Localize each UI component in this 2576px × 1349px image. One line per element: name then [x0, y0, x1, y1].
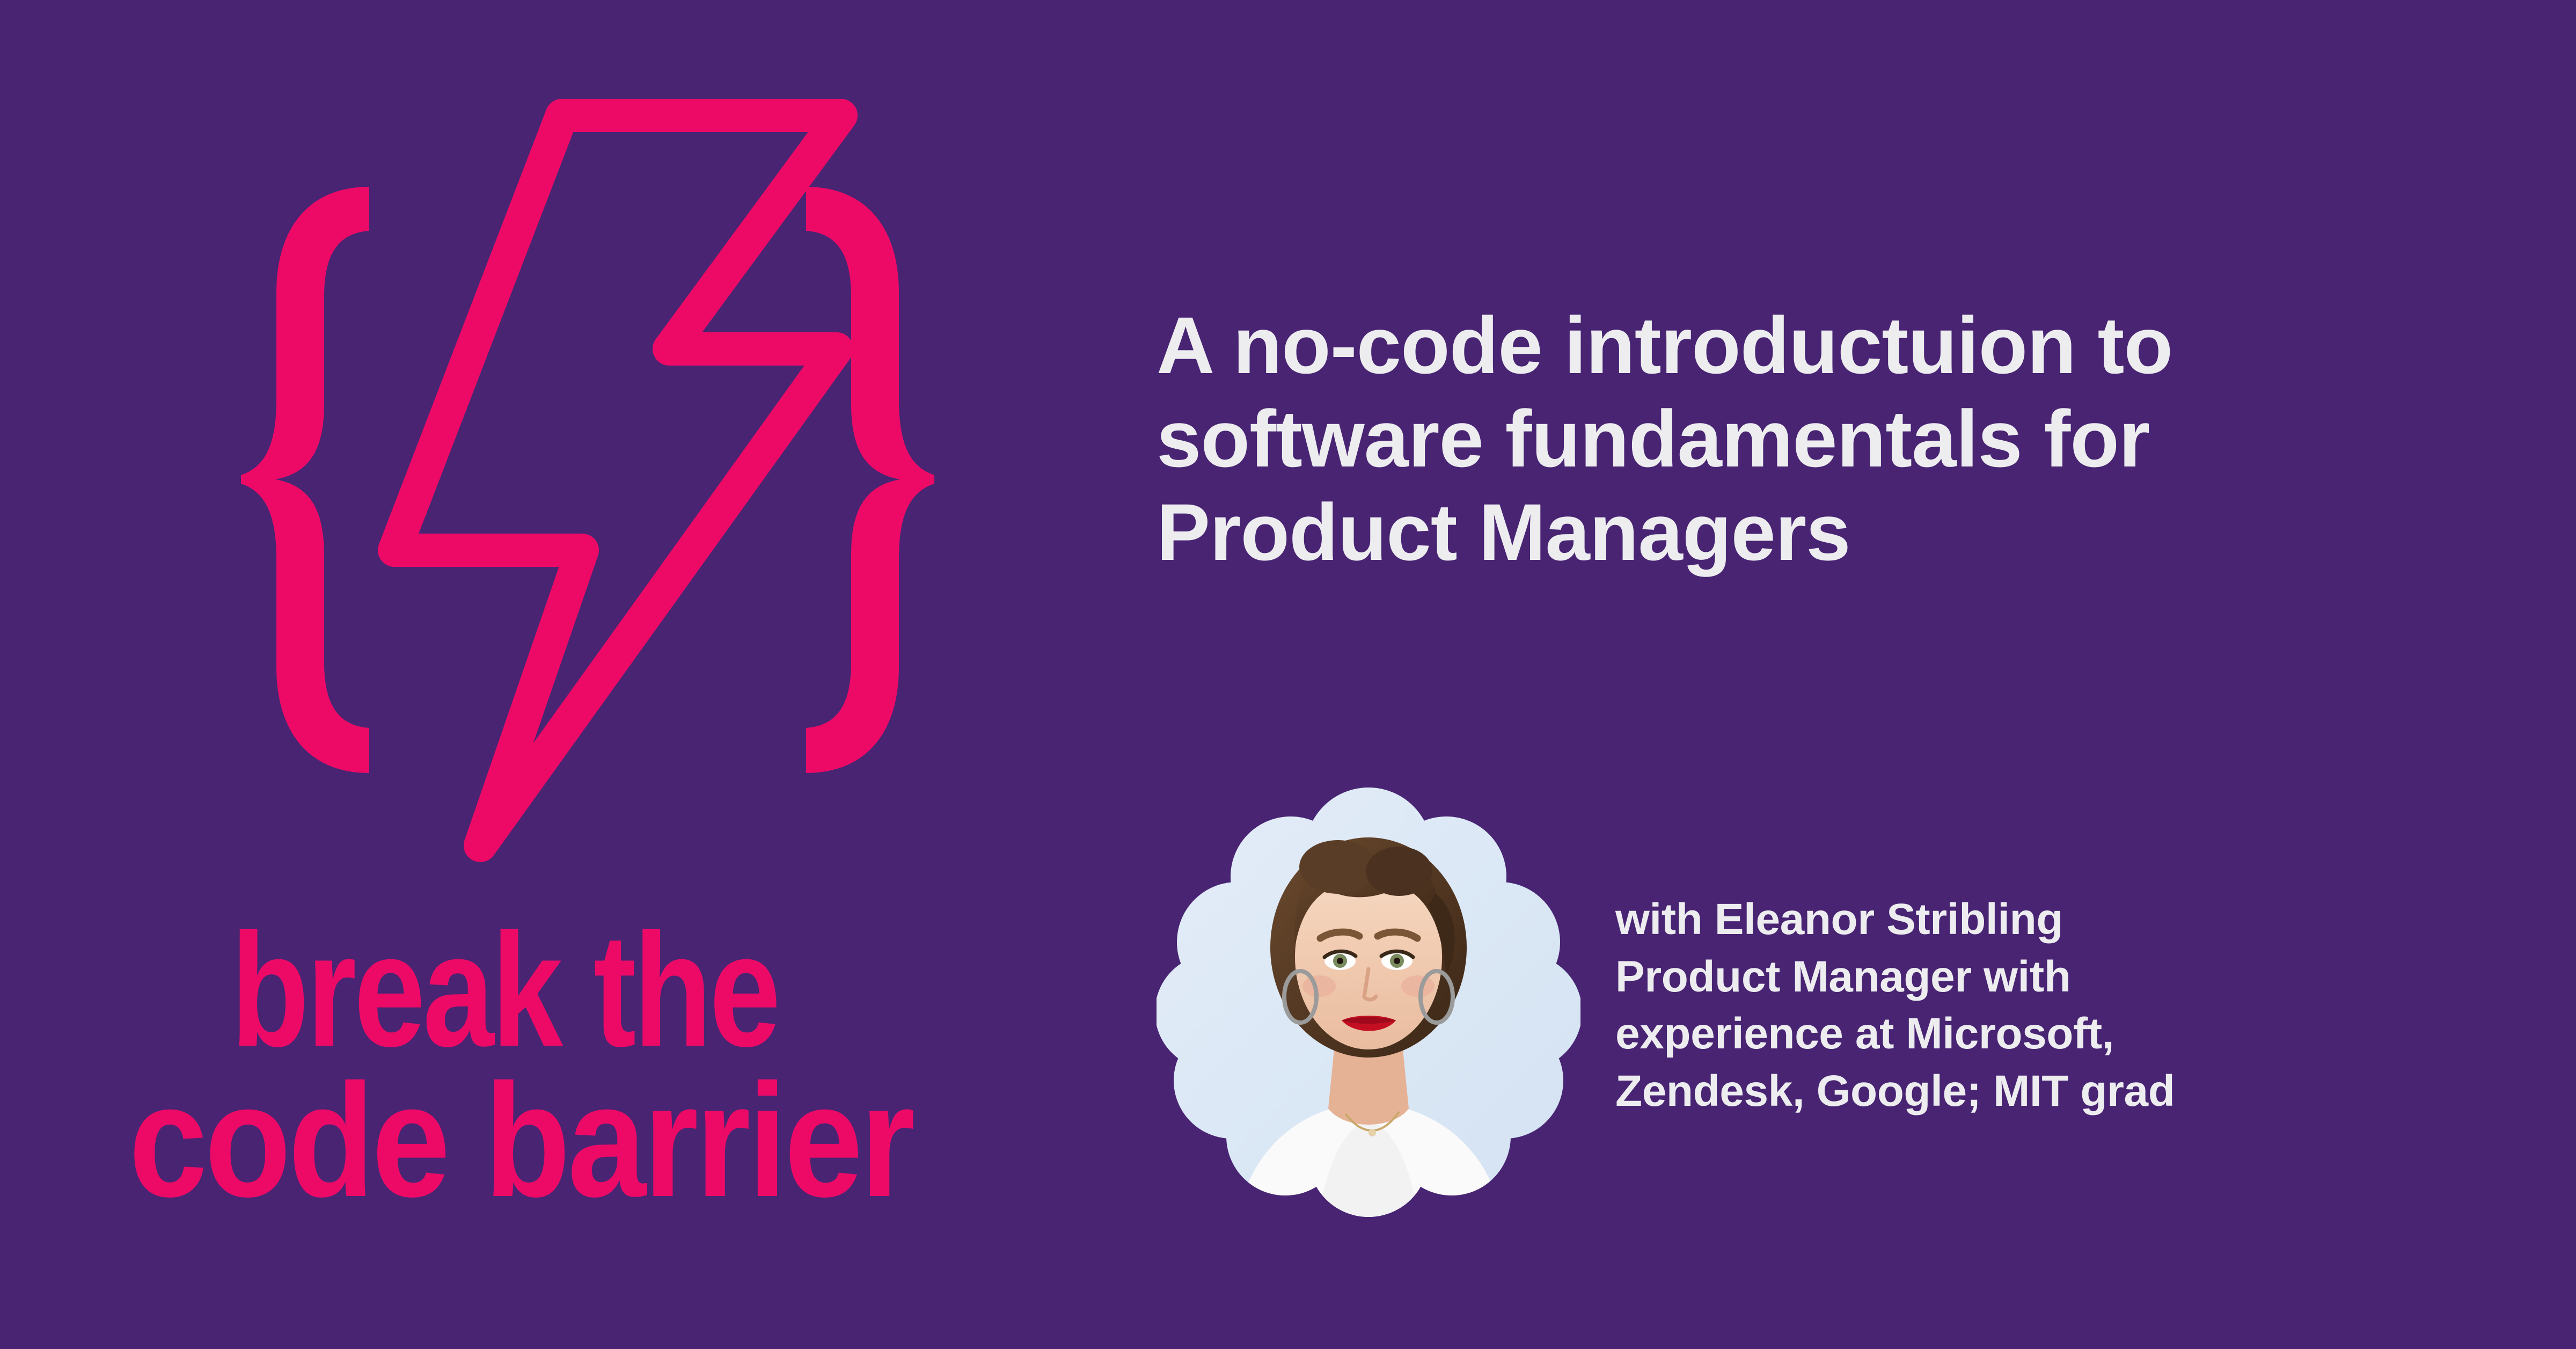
- slide-canvas: break the code barrier A no-code introdu…: [0, 0, 2576, 1349]
- brand-lockup: break the code barrier: [0, 0, 1116, 1349]
- speaker-bio: with Eleanor Stribling Product Manager w…: [1615, 891, 2286, 1120]
- content-column: A no-code introductuion to software fund…: [1157, 0, 2576, 1349]
- wordmark-line-2: code barrier: [129, 1050, 913, 1230]
- speaker-block: with Eleanor Stribling Product Manager w…: [1157, 786, 2445, 1232]
- page-title: A no-code introductuion to software fund…: [1157, 298, 2326, 579]
- avatar-photo: [1157, 786, 1580, 1221]
- right-brace-shape: [806, 187, 934, 773]
- left-brace-shape: [241, 187, 369, 773]
- lightning-bolt-shape: [394, 115, 841, 845]
- wordmark: break the code barrier: [0, 885, 1116, 1228]
- curly-braces-lightning-bolt-icon: [212, 99, 963, 862]
- avatar: [1157, 786, 1580, 1221]
